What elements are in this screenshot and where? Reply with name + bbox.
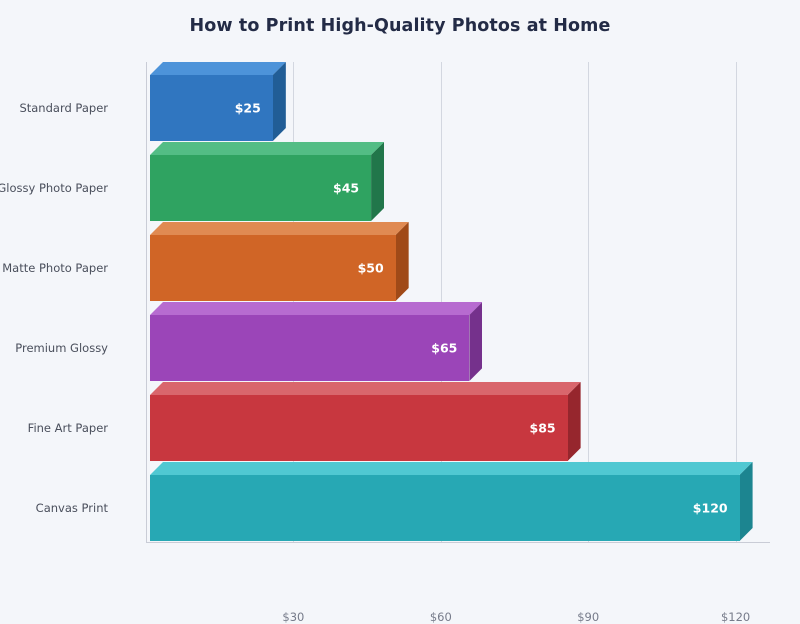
y-tick-label: Fine Art Paper xyxy=(28,421,108,435)
bar-top-face xyxy=(150,462,753,475)
bar-side-face xyxy=(469,302,482,381)
bar-side-face xyxy=(568,382,581,461)
bar-value-label: $85 xyxy=(530,421,556,436)
bar[interactable]: $45 xyxy=(150,142,384,221)
bar-side-face xyxy=(273,62,286,141)
bar-front-face xyxy=(150,475,740,541)
bar-top-face xyxy=(150,222,409,235)
x-tick-label: $60 xyxy=(430,610,452,624)
bar-value-label: $25 xyxy=(235,101,261,116)
y-tick-label: Glossy Photo Paper xyxy=(0,181,108,195)
x-tick-label: $120 xyxy=(721,610,750,624)
bar[interactable]: $120 xyxy=(150,462,753,541)
bar-top-face xyxy=(150,302,482,315)
bar-value-label: $50 xyxy=(358,261,384,276)
bar-top-face xyxy=(150,62,286,75)
bar-side-face xyxy=(371,142,384,221)
bar[interactable]: $50 xyxy=(150,222,409,301)
bar-side-face xyxy=(396,222,409,301)
bar-front-face xyxy=(150,315,469,381)
y-axis-line xyxy=(146,62,147,542)
y-tick-label: Premium Glossy xyxy=(15,341,108,355)
bar[interactable]: $85 xyxy=(150,382,581,461)
bar[interactable]: $25 xyxy=(150,62,286,141)
x-axis-line xyxy=(146,542,770,543)
y-tick-label: Canvas Print xyxy=(36,501,108,515)
bar-top-face xyxy=(150,142,384,155)
bar-chart: How to Print High-Quality Photos at Home… xyxy=(0,0,800,600)
bar-value-label: $65 xyxy=(431,341,457,356)
chart-title: How to Print High-Quality Photos at Home xyxy=(0,16,800,36)
y-tick-label: Matte Photo Paper xyxy=(2,261,108,275)
bar-side-face xyxy=(740,462,753,541)
bar-value-label: $45 xyxy=(333,181,359,196)
y-tick-label: Standard Paper xyxy=(19,101,108,115)
x-tick-label: $90 xyxy=(577,610,599,624)
bar[interactable]: $65 xyxy=(150,302,482,381)
plot-area: $25$45$50$65$85$120 $30$60$90$120 Standa… xyxy=(146,62,770,542)
x-tick-label: $30 xyxy=(282,610,304,624)
bar-value-label: $120 xyxy=(693,501,728,516)
bar-top-face xyxy=(150,382,581,395)
bar-front-face xyxy=(150,395,568,461)
